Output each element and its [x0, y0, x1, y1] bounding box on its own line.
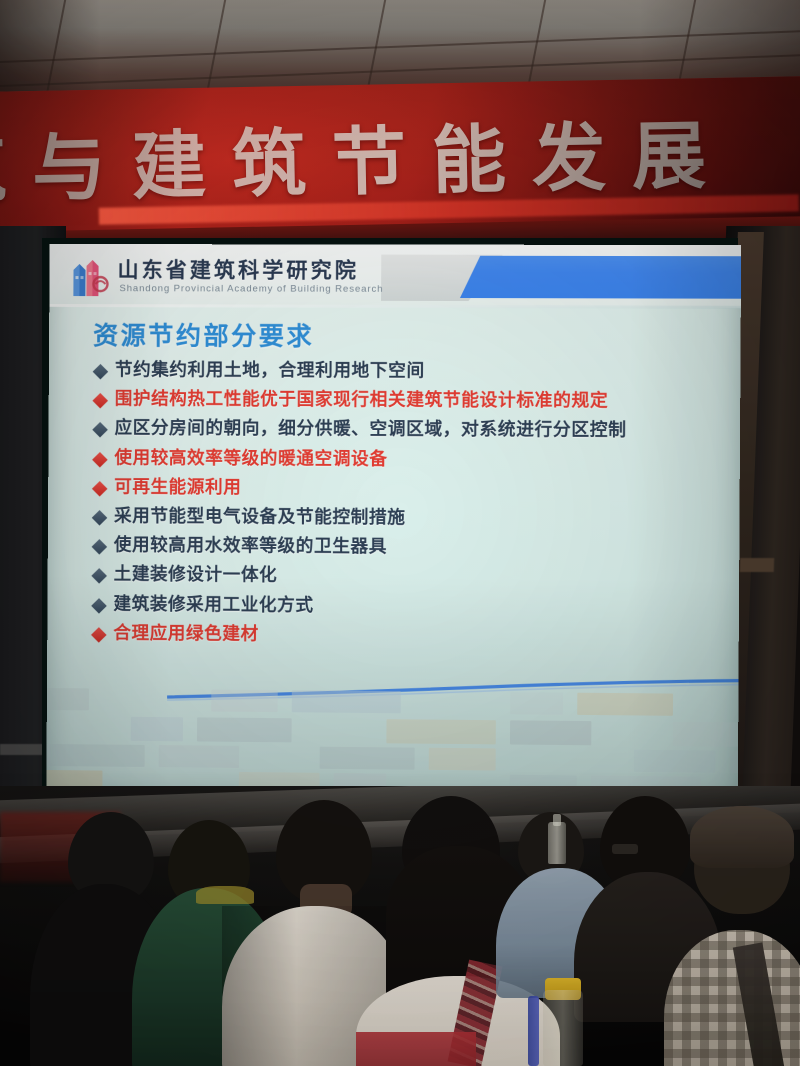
slide-bullet-text: 围护结构热工性能优于国家现行相关建筑节能设计标准的规定 [115, 389, 609, 413]
slide-bullet-item: 节约集约利用土地，合理利用地下空间 [95, 360, 722, 384]
water-bottle-yellow-cap [543, 990, 583, 1066]
diamond-bullet-icon [91, 568, 107, 584]
diamond-bullet-icon [92, 481, 108, 497]
mosaic-tile [292, 690, 401, 713]
slide-bullet-item: 可再生能源利用 [94, 477, 721, 502]
slide-bullet-item: 采用节能型电气设备及节能控制措施 [94, 506, 721, 532]
mosaic-tile [386, 719, 496, 744]
header-accent-band [460, 256, 741, 299]
slide-bullet-text: 建筑装修采用工业化方式 [113, 594, 313, 617]
mosaic-tile [46, 688, 89, 710]
conference-photo: 筑与建筑节能发展 [0, 0, 800, 1066]
ceiling-grid-line [201, 0, 232, 98]
ceiling-shadow-left [0, 0, 100, 98]
mosaic-tile [510, 720, 591, 745]
slide-bullet-item: 土建装修设计一体化 [94, 565, 721, 591]
glasses-icon [612, 844, 638, 854]
hall-banner: 筑与建筑节能发展 [0, 76, 800, 252]
mosaic-tile [159, 745, 239, 768]
slide-bullet-item: 建筑装修采用工业化方式 [93, 594, 720, 621]
mosaic-tile [429, 748, 496, 771]
attendee-hair [690, 806, 794, 868]
slide-bullet-text: 可再生能源利用 [114, 477, 241, 499]
water-bottle-clear [548, 822, 566, 864]
mosaic-tile [673, 722, 741, 747]
diamond-bullet-icon [92, 452, 108, 468]
slide-bullet-text: 应区分房间的朝向，细分供暖、空调区域，对系统进行分区控制 [115, 419, 627, 443]
diamond-bullet-icon [92, 510, 108, 526]
diamond-bullet-icon [91, 627, 107, 643]
bag-strap-blue [528, 996, 539, 1066]
diamond-bullet-icon [92, 393, 108, 409]
mosaic-tile [320, 747, 415, 770]
slide-bullet-item: 围护结构热工性能优于国家现行相关建筑节能设计标准的规定 [95, 389, 722, 413]
academy-name-en: Shandong Provincial Academy of Building … [119, 283, 383, 295]
mosaic-tile [46, 744, 144, 767]
diamond-bullet-icon [92, 422, 108, 438]
mosaic-tile [131, 717, 183, 742]
red-garment [356, 1032, 476, 1066]
shirt-collar [196, 886, 254, 904]
slide-bullet-list: 节约集约利用土地，合理利用地下空间围护结构热工性能优于国家现行相关建筑节能设计标… [93, 360, 722, 657]
slide-bullet-text: 使用较高效率等级的暖通空调设备 [114, 448, 387, 471]
mosaic-tile [634, 750, 716, 773]
diamond-bullet-icon [93, 364, 109, 380]
slide-bullet-item: 合理应用绿色建材 [93, 623, 720, 650]
academy-logo-icon [67, 256, 111, 300]
diamond-bullet-icon [92, 539, 108, 555]
slide-bullet-text: 采用节能型电气设备及节能控制措施 [114, 506, 406, 530]
mosaic-tile [197, 717, 292, 742]
projection-screen: 山东省建筑科学研究院 Shandong Provincial Academy o… [46, 244, 741, 801]
slide-bullet-text: 使用较高用水效率等级的卫生器具 [114, 536, 387, 560]
slide-title: 资源节约部分要求 [93, 316, 314, 353]
slide-bullet-item: 使用较高效率等级的暖通空调设备 [94, 448, 721, 473]
wall-notch [740, 558, 774, 572]
mosaic-tile [577, 693, 673, 716]
diamond-bullet-icon [91, 598, 107, 614]
slide-bullet-item: 应区分房间的朝向，细分供暖、空调区域，对系统进行分区控制 [94, 419, 721, 444]
slide-bullet-text: 合理应用绿色建材 [113, 623, 259, 646]
mosaic-tile [211, 689, 278, 712]
academy-name-cn: 山东省建筑科学研究院 [117, 254, 359, 285]
slide-bullet-text: 节约集约利用土地，合理利用地下空间 [115, 360, 425, 383]
header-divider [49, 304, 741, 309]
slide-bullet-item: 使用较高用水效率等级的卫生器具 [94, 535, 721, 561]
slide-footer-mosaic [46, 684, 738, 801]
slide-bullet-text: 土建装修设计一体化 [114, 565, 278, 588]
mosaic-tile [510, 692, 563, 715]
